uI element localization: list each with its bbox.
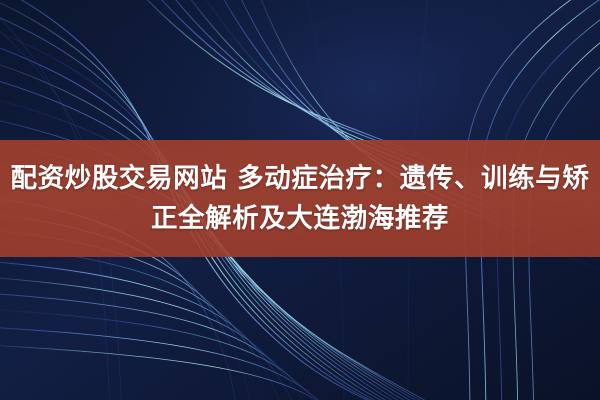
promo-banner: 配资炒股交易网站 多动症治疗：遗传、训练与矫 正全解析及大连渤海推荐 (0, 0, 600, 400)
banner-title: 配资炒股交易网站 多动症治疗：遗传、训练与矫 正全解析及大连渤海推荐 (0, 140, 600, 257)
title-line-1: 配资炒股交易网站 多动症治疗：遗传、训练与矫 (11, 159, 590, 199)
title-line-2: 正全解析及大连渤海推荐 (151, 199, 449, 239)
